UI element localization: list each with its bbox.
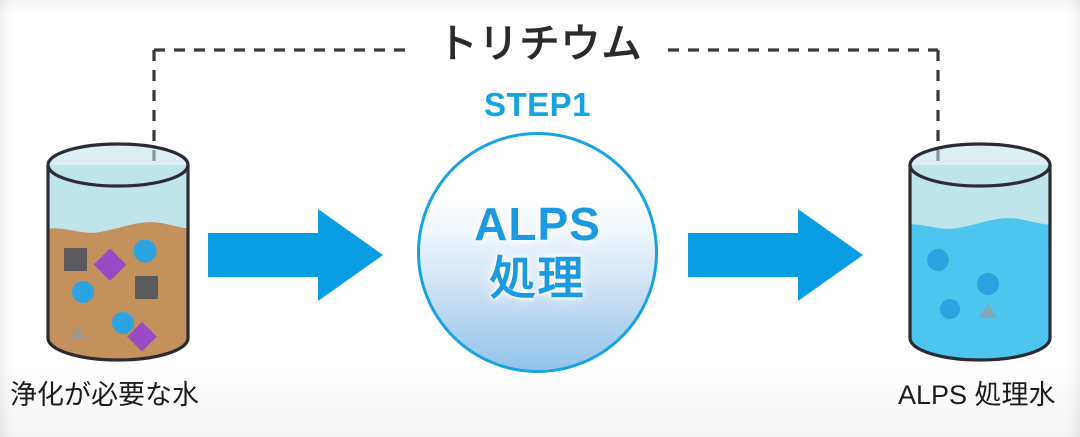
flow-arrow-to-alps: [208, 205, 383, 305]
treated-water-body: [900, 218, 1060, 370]
beaker-treated-icon: [900, 140, 1060, 370]
caption-treated-water: ALPS 処理水: [898, 382, 1056, 409]
beaker-rim: [910, 144, 1050, 186]
particle-circle: [927, 249, 949, 271]
alps-process-circle[interactable]: ALPS 処理: [417, 132, 658, 373]
particle-circle: [112, 312, 134, 334]
step-label: STEP1: [417, 88, 658, 121]
particle-circle: [977, 273, 999, 295]
tritium-label: トリチウム: [420, 24, 660, 64]
particle-square: [135, 276, 158, 299]
particle-circle: [72, 281, 94, 303]
contaminated-water-body: [38, 222, 198, 370]
arrow-shape: [688, 209, 863, 301]
caption-contaminated-water: 浄化が必要な水: [10, 382, 199, 409]
flow-arrow-to-output: [688, 205, 863, 305]
particle-circle: [134, 240, 157, 263]
beaker-rim: [48, 144, 188, 186]
alps-circle-title: ALPS: [474, 200, 601, 248]
arrow-shape: [208, 209, 383, 301]
beaker-contaminated-icon: [38, 140, 198, 370]
particle-circle: [940, 299, 960, 319]
alps-circle-subtitle: 処理: [490, 252, 586, 305]
diagram-canvas: トリチウム STEP1 ALPS 処理: [0, 0, 1080, 437]
particle-square: [64, 248, 87, 271]
